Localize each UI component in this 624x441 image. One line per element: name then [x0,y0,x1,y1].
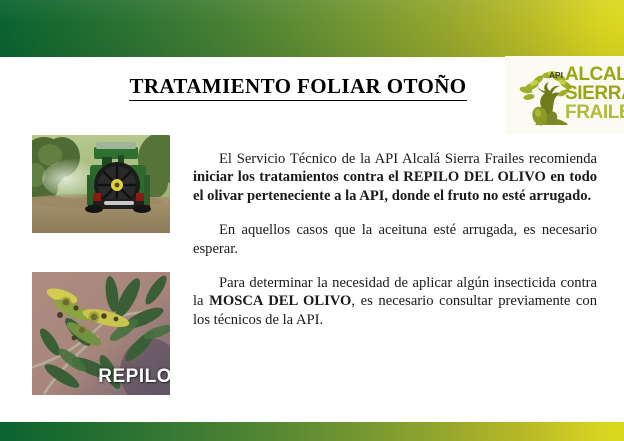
logo-line3: FRAILES [565,102,624,123]
logo: API ALCALÁ SIERRA FRAILES [505,56,624,134]
text-run: En aquellos casos que la aceituna esté a… [193,222,597,256]
bottom-gradient-band [0,422,624,441]
repilo-leaves-photo: REPILO [32,272,170,395]
top-band-shading [0,0,624,57]
photo-caption-repilo: REPILO [98,366,170,388]
paragraph-1: El Servicio Técnico de la API Alcalá Sie… [193,150,597,205]
logo-svg: API ALCALÁ SIERRA FRAILES [505,56,624,134]
slide-canvas: TRATAMIENTO FOLIAR OTOÑO [0,0,624,441]
body-text: El Servicio Técnico de la API Alcalá Sie… [193,150,597,329]
paragraph-2: En aquellos casos que la aceituna esté a… [193,221,597,258]
text-run: MOSCA DEL OLIVO [209,293,351,309]
logo-prefix: API [549,70,563,80]
paragraph-3: Para determinar la necesidad de aplicar … [193,274,597,329]
tractor-sprayer-image [32,135,170,233]
text-run: El Servicio Técnico de la API Alcalá Sie… [219,151,597,167]
tractor-sprayer-photo [32,135,170,233]
logo-line1: ALCALÁ [565,63,624,85]
logo-line2: SIERRA [565,83,624,104]
text-run: iniciar los tratamientos contra el REPIL… [193,169,597,203]
top-gradient-band [0,0,624,57]
page-title-text: TRATAMIENTO FOLIAR OTOÑO [129,74,466,101]
